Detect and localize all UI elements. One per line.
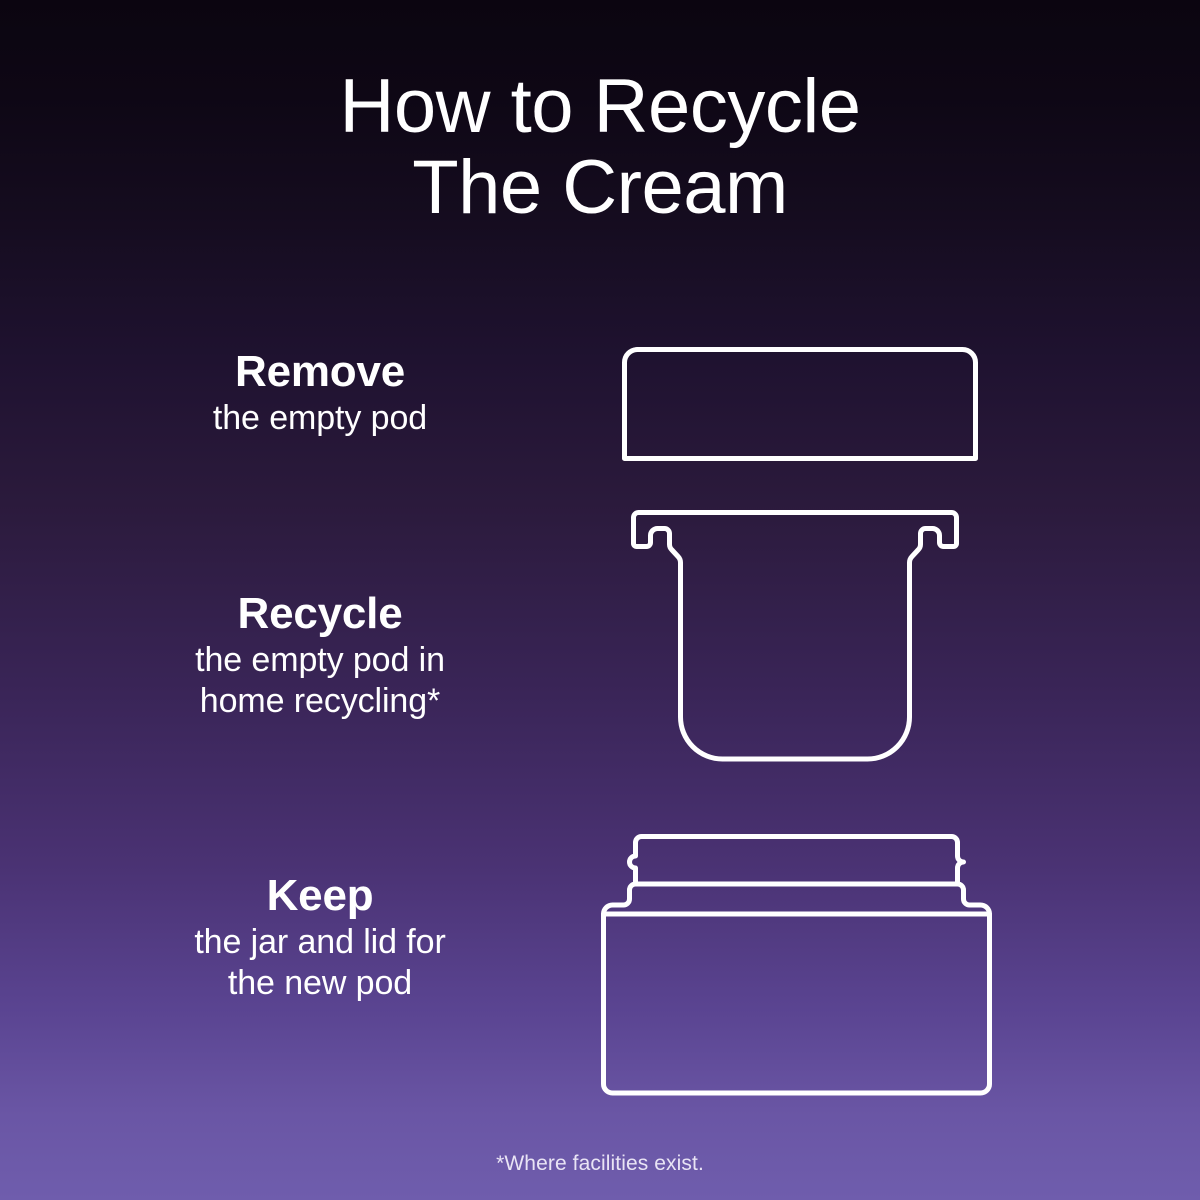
cream-jar-icon [590, 820, 1020, 1120]
step-keep-title: Keep [60, 872, 580, 920]
step-remove-title: Remove [60, 348, 580, 396]
step-keep-description: the jar and lid for the new pod [60, 922, 580, 1005]
title-line-1: How to Recycle [0, 66, 1200, 147]
footnote: *Where facilities exist. [0, 1152, 1200, 1176]
title-line-2: The Cream [0, 147, 1200, 228]
page-title: How to Recycle The Cream [0, 66, 1200, 229]
step-remove: Remove the empty pod [60, 348, 580, 439]
step-remove-description: the empty pod [60, 398, 580, 439]
step-recycle-description: the empty pod in home recycling* [60, 640, 580, 723]
step-recycle-title: Recycle [60, 590, 580, 638]
jar-lid-icon [600, 325, 1010, 475]
recycle-instructions-poster: How to Recycle The Cream Remove the empt… [0, 0, 1200, 1200]
refill-pod-icon [600, 495, 1010, 795]
step-recycle: Recycle the empty pod in home recycling* [60, 590, 580, 722]
step-keep: Keep the jar and lid for the new pod [60, 872, 580, 1004]
